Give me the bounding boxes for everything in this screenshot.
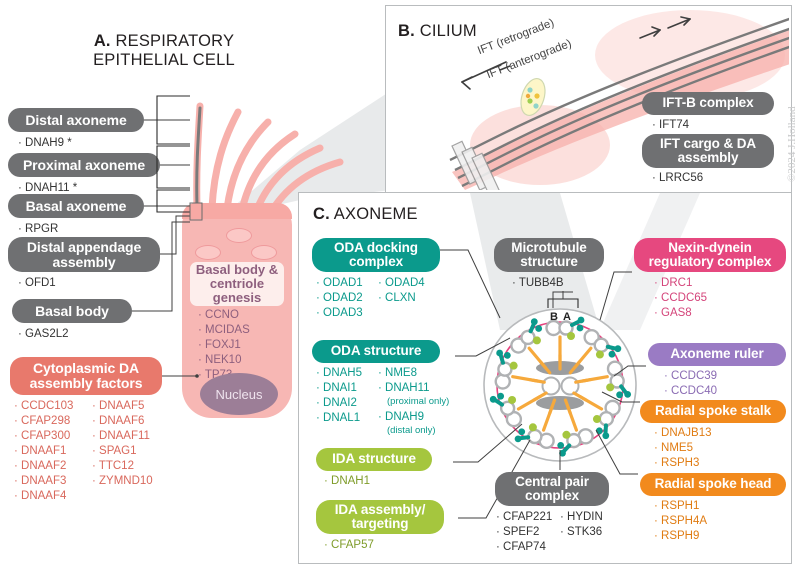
genes-ida-assembly: · CFAP57 [324,538,374,553]
gene-item: · CCDC65 [654,291,707,306]
label-radial-spoke-head[interactable]: Radial spoke head [640,473,786,496]
label-ida-structure[interactable]: IDA structure [316,448,432,471]
label-central-pair-complex[interactable]: Central pair complex [495,472,609,506]
genes-radial-spoke-head: · RSPH1· RSPH4A· RSPH9 [654,499,707,544]
genes-axoneme-ruler: · CCDC39· CCDC40 [664,369,717,399]
label-text: Central pair complex [504,475,600,504]
gene-item: · CCDC40 [664,384,717,399]
label-oda-docking-complex[interactable]: ODA docking complex [312,238,440,272]
gene-item: · RSPH1 [654,499,707,514]
label-text: IDA structure [332,452,416,466]
gene-item: · DNAI1 [316,381,378,396]
label-text: Radial spoke stalk [655,404,771,418]
gene-item: · ODAD4 [378,276,425,291]
gene-item: · HYDIN [560,510,603,525]
label-text: Microtubule structure [503,241,595,270]
gene-item: · ODAD2 [316,291,378,306]
gene-item: · DNAH5 [316,366,378,381]
label-text: ODA docking complex [321,241,431,270]
label-text: Nexin-dynein regulatory complex [643,241,777,270]
genes-nexin-dynein: · DRC1· CCDC65· GAS8 [654,276,707,321]
genes-oda-docking-complex: · ODAD1· ODAD2· ODAD3· ODAD4· CLXN [316,276,425,321]
genes-central-pair-complex: · CFAP221· SPEF2· CFAP74· HYDIN· STK36 [496,510,603,555]
label-ida-assembly-targeting[interactable]: IDA assembly/ targeting [316,500,444,534]
genes-ida-structure: · DNAH1 [324,474,370,489]
label-text: ODA structure [331,344,421,358]
gene-item: · SPEF2 [496,525,560,540]
gene-item: · CCDC39 [664,369,717,384]
gene-item: · STK36 [560,525,603,540]
genes-radial-spoke-stalk: · DNAJB13· NME5· RSPH3 [654,426,712,471]
gene-item: · DNAJB13 [654,426,712,441]
label-nexin-dynein-regulatory-complex[interactable]: Nexin-dynein regulatory complex [634,238,786,272]
gene-item: · RSPH9 [654,529,707,544]
label-microtubule-structure[interactable]: Microtubule structure [494,238,604,272]
label-text: IDA assembly/ targeting [325,503,435,532]
gene-item: · NME8 [378,366,449,381]
gene-item: · ODAD3 [316,306,378,321]
gene-item: · CLXN [378,291,425,306]
gene-item: · ODAD1 [316,276,378,291]
gene-item: · GAS8 [654,306,707,321]
label-text: Radial spoke head [655,477,772,491]
gene-item: · CFAP221 [496,510,560,525]
label-oda-structure[interactable]: ODA structure [312,340,440,363]
genes-oda-structure: · DNAH5· DNAI1· DNAI2· DNAL1· NME8· DNAH… [316,366,449,439]
gene-item: · DRC1 [654,276,707,291]
gene-item: · DNAI2 [316,396,378,411]
label-text: Axoneme ruler [670,347,763,361]
gene-item: · RSPH4A [654,514,707,529]
label-axoneme-ruler[interactable]: Axoneme ruler [648,343,786,366]
genes-microtubule-structure: · TUBB4B [512,276,564,291]
gene-item: · CFAP74 [496,540,560,555]
gene-item: · NME5 [654,441,712,456]
gene-item: · RSPH3 [654,456,712,471]
label-radial-spoke-stalk[interactable]: Radial spoke stalk [640,400,786,423]
gene-item: · DNAL1 [316,411,378,426]
